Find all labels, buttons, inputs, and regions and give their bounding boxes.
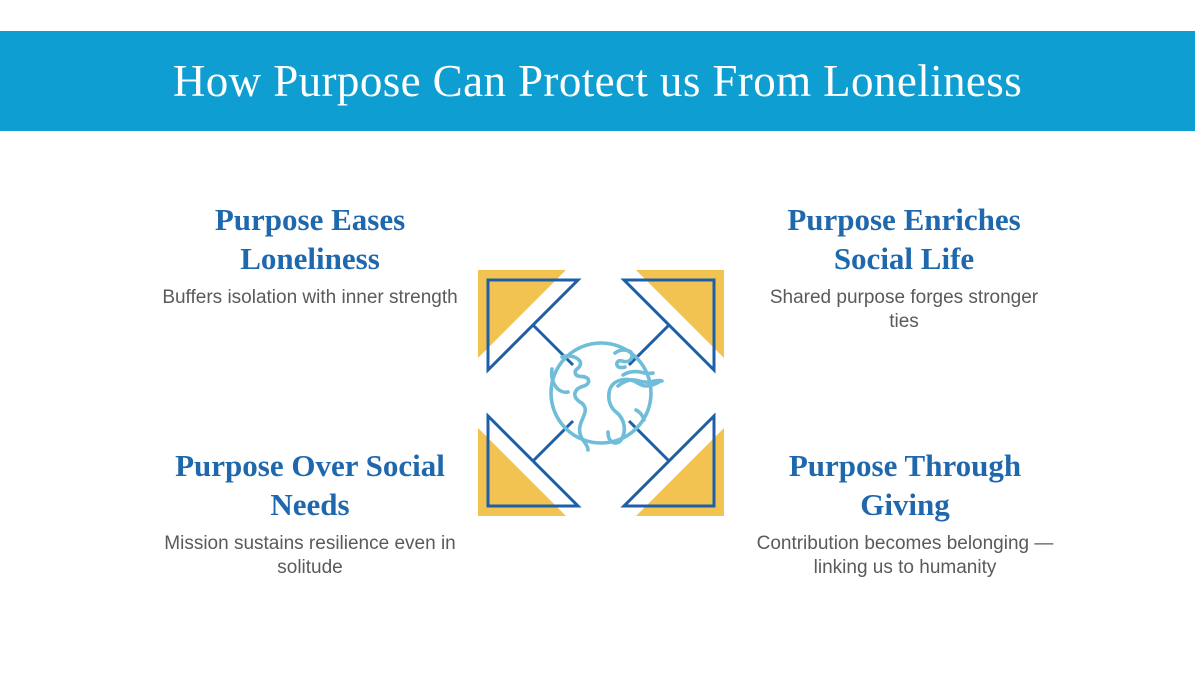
- quadrant-heading-bottom-right: Purpose Through Giving: [750, 446, 1060, 524]
- quadrant-heading-top-left: Purpose Eases Loneliness: [160, 200, 460, 278]
- quadrant-body-top-left: Buffers isolation with inner strength: [160, 286, 460, 310]
- arrow-fill-triangles: [478, 270, 724, 516]
- quadrant-heading-bottom-left: Purpose Over Social Needs: [150, 446, 470, 524]
- quadrant-top-left: Purpose Eases Loneliness Buffers isolati…: [160, 200, 460, 310]
- quadrant-heading-top-right: Purpose Enriches Social Life: [754, 200, 1054, 278]
- quadrant-top-right: Purpose Enriches Social Life Shared purp…: [754, 200, 1054, 335]
- quadrant-bottom-right: Purpose Through Giving Contribution beco…: [750, 446, 1060, 581]
- quadrant-bottom-left: Purpose Over Social Needs Mission sustai…: [150, 446, 470, 581]
- globe-arrows-illustration: [466, 258, 736, 528]
- center-graphic: [466, 258, 736, 528]
- arrow-shafts: [533, 325, 669, 461]
- slide-canvas: How Purpose Can Protect us From Loneline…: [0, 0, 1200, 675]
- quadrant-body-top-right: Shared purpose forges stronger ties: [754, 286, 1054, 335]
- quadrant-body-bottom-left: Mission sustains resilience even in soli…: [150, 532, 470, 581]
- quadrant-body-bottom-right: Contribution becomes belonging — linking…: [750, 532, 1060, 581]
- title-banner: How Purpose Can Protect us From Loneline…: [0, 31, 1195, 131]
- page-title: How Purpose Can Protect us From Loneline…: [173, 59, 1022, 104]
